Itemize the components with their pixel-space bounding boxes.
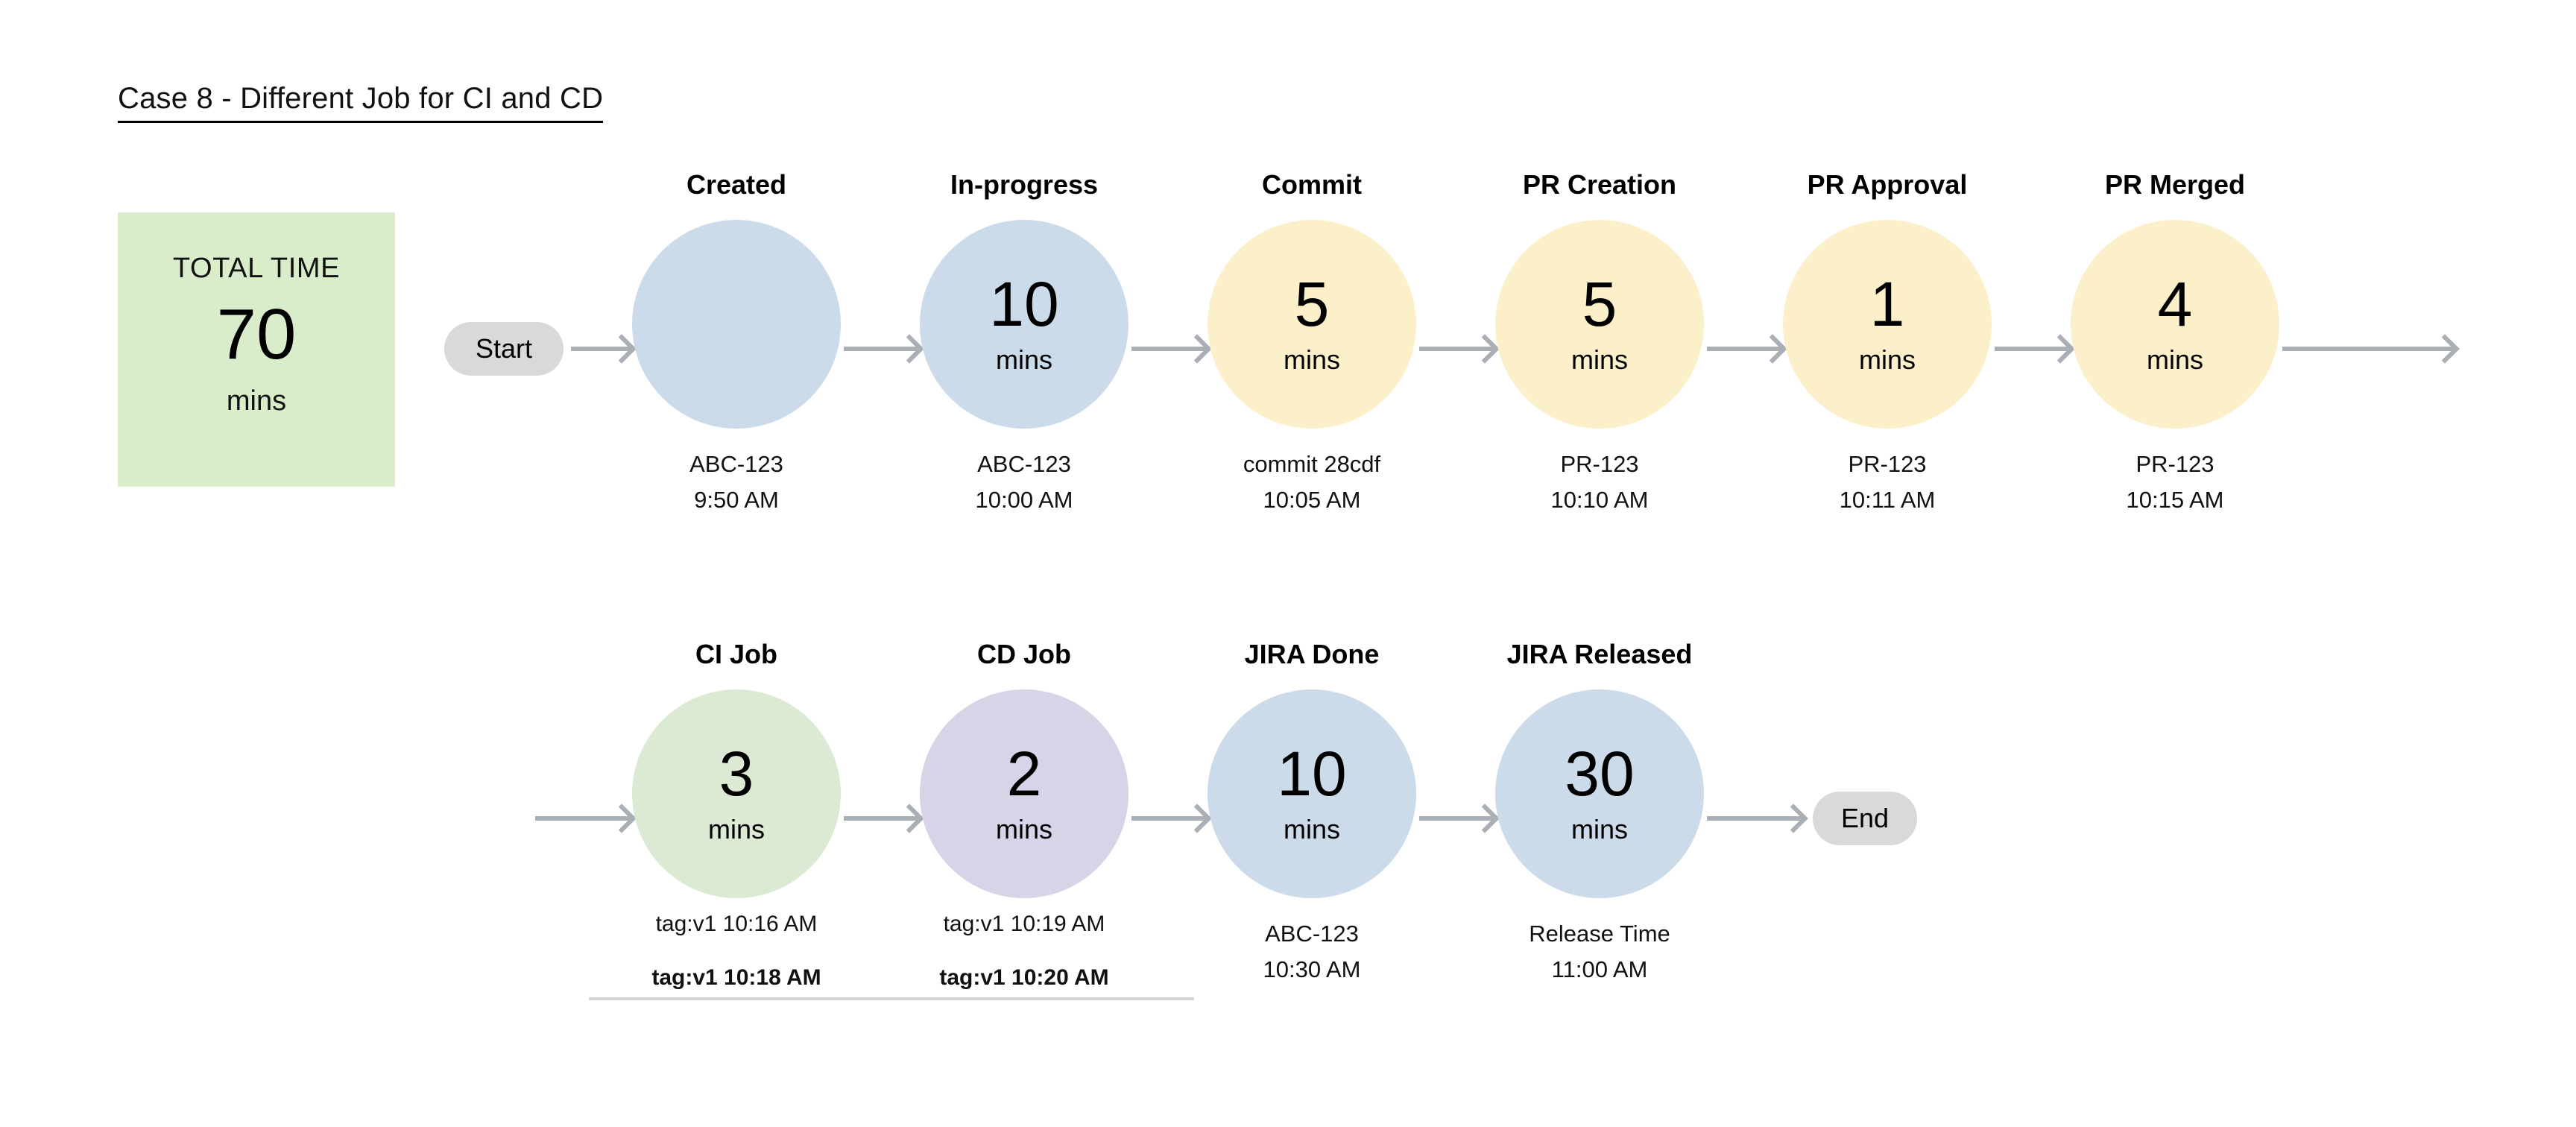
node-caption: PR-123 10:10 AM	[1488, 446, 1711, 519]
node-tag-bottom: tag:v1 10:20 AM	[912, 967, 1136, 989]
connector-prcreation-to-prapproval	[1707, 347, 1781, 351]
node-unit: mins	[1284, 816, 1340, 843]
node-title: PR Merged	[2063, 171, 2287, 201]
start-pill[interactable]: Start	[444, 322, 563, 376]
node-title: PR Creation	[1488, 171, 1711, 201]
end-pill-label: End	[1841, 803, 1889, 834]
node-tag-block: tag:v1 10:16 AM tag:v1 10:18 AM	[625, 913, 848, 989]
node-cd-job[interactable]: CD Job 2 mins tag:v1 10:19 AM tag:v1 10:…	[912, 641, 1136, 989]
node-caption-line1: ABC-123	[689, 451, 783, 477]
node-caption-line2: 10:30 AM	[1200, 952, 1424, 988]
node-value: 3	[719, 745, 754, 804]
node-value: 4	[2158, 275, 2193, 335]
connector-prev-row-to-cijob	[535, 816, 631, 821]
node-circle[interactable]: 5 mins	[1207, 220, 1416, 429]
node-circle[interactable]	[632, 220, 841, 429]
node-caption: PR-123 10:15 AM	[2063, 446, 2287, 519]
connector-cdjob-to-jiradone	[1131, 816, 1206, 821]
node-title: In-progress	[912, 171, 1136, 201]
node-circle[interactable]: 30 mins	[1495, 689, 1704, 898]
node-unit: mins	[2147, 347, 2203, 373]
node-created[interactable]: Created ABC-123 9:50 AM	[625, 171, 848, 519]
connector-start-to-created	[571, 347, 631, 351]
node-circle[interactable]: 2 mins	[920, 689, 1128, 898]
end-pill[interactable]: End	[1813, 792, 1917, 845]
node-caption: ABC-123 9:50 AM	[625, 446, 848, 519]
connector-jiradone-to-jirareleased	[1419, 816, 1494, 821]
total-time-card: TOTAL TIME 70 mins	[118, 212, 395, 487]
node-title: Commit	[1200, 171, 1424, 201]
node-title: PR Approval	[1775, 171, 1999, 201]
node-value: 10	[1277, 745, 1346, 804]
connector-prapproval-to-prmerged	[1995, 347, 2069, 351]
connector-prmerged-to-next-row	[2282, 347, 2454, 351]
node-caption-line1: ABC-123	[1265, 921, 1359, 947]
node-tag-bottom: tag:v1 10:18 AM	[625, 967, 848, 989]
node-tag-top: tag:v1 10:19 AM	[944, 912, 1105, 936]
node-value: 5	[1582, 275, 1617, 335]
node-unit: mins	[1859, 347, 1916, 373]
node-caption: Release Time 11:00 AM	[1488, 916, 1711, 988]
tag-divider	[589, 997, 1194, 1000]
node-value: 1	[1870, 275, 1905, 335]
node-caption-line1: PR-123	[2135, 451, 2214, 477]
node-caption-line2: 10:10 AM	[1488, 482, 1711, 518]
node-caption: ABC-123 10:00 AM	[912, 446, 1136, 519]
node-circle[interactable]: 3 mins	[632, 689, 841, 898]
node-caption-line2: 9:50 AM	[625, 482, 848, 518]
node-unit: mins	[1571, 816, 1628, 843]
node-title: CD Job	[912, 641, 1136, 671]
connector-inprogress-to-commit	[1131, 347, 1206, 351]
connector-jirareleased-to-end	[1707, 816, 1802, 821]
node-value: 5	[1295, 275, 1330, 335]
node-in-progress[interactable]: In-progress 10 mins ABC-123 10:00 AM	[912, 171, 1136, 519]
node-circle[interactable]: 5 mins	[1495, 220, 1704, 429]
connector-commit-to-prcreation	[1419, 347, 1494, 351]
node-caption: ABC-123 10:30 AM	[1200, 916, 1424, 988]
node-value: 30	[1565, 745, 1634, 804]
node-title: JIRA Done	[1200, 641, 1424, 671]
node-caption-line1: PR-123	[1848, 451, 1926, 477]
node-circle[interactable]: 4 mins	[2071, 220, 2279, 429]
node-unit: mins	[996, 347, 1052, 373]
node-value: 10	[989, 275, 1058, 335]
connector-created-to-inprogress	[844, 347, 918, 351]
node-caption-line1: Release Time	[1529, 921, 1670, 947]
node-tag-top: tag:v1 10:16 AM	[656, 912, 818, 936]
node-pr-approval[interactable]: PR Approval 1 mins PR-123 10:11 AM	[1775, 171, 1999, 519]
node-title: Created	[625, 171, 848, 201]
node-tag-block: tag:v1 10:19 AM tag:v1 10:20 AM	[912, 913, 1136, 989]
node-unit: mins	[708, 816, 765, 843]
node-caption: commit 28cdf 10:05 AM	[1200, 446, 1424, 519]
node-caption-line2: 10:00 AM	[912, 482, 1136, 518]
node-caption-line2: 10:15 AM	[2063, 482, 2287, 518]
node-circle[interactable]: 10 mins	[920, 220, 1128, 429]
node-circle[interactable]: 10 mins	[1207, 689, 1416, 898]
node-unit: mins	[1284, 347, 1340, 373]
node-caption-line2: 10:05 AM	[1200, 482, 1424, 518]
node-ci-job[interactable]: CI Job 3 mins tag:v1 10:16 AM tag:v1 10:…	[625, 641, 848, 989]
node-caption: PR-123 10:11 AM	[1775, 446, 1999, 519]
node-caption-line1: PR-123	[1560, 451, 1638, 477]
node-value: 2	[1007, 745, 1042, 804]
total-time-value: 70	[217, 296, 297, 373]
node-commit[interactable]: Commit 5 mins commit 28cdf 10:05 AM	[1200, 171, 1424, 519]
node-pr-merged[interactable]: PR Merged 4 mins PR-123 10:15 AM	[2063, 171, 2287, 519]
page-title: Case 8 - Different Job for CI and CD	[118, 82, 603, 123]
node-unit: mins	[996, 816, 1052, 843]
total-time-label: TOTAL TIME	[173, 254, 340, 282]
node-title: JIRA Released	[1488, 641, 1711, 671]
node-title: CI Job	[625, 641, 848, 671]
total-time-unit: mins	[227, 385, 286, 417]
node-caption-line2: 10:11 AM	[1775, 482, 1999, 518]
node-pr-creation[interactable]: PR Creation 5 mins PR-123 10:10 AM	[1488, 171, 1711, 519]
node-circle[interactable]: 1 mins	[1783, 220, 1992, 429]
node-caption-line1: ABC-123	[977, 451, 1071, 477]
node-caption-line2: 11:00 AM	[1488, 952, 1711, 988]
node-jira-released[interactable]: JIRA Released 30 mins Release Time 11:00…	[1488, 641, 1711, 988]
start-pill-label: Start	[476, 333, 532, 364]
node-caption-line1: commit 28cdf	[1243, 451, 1380, 477]
node-unit: mins	[1571, 347, 1628, 373]
connector-cijob-to-cdjob	[844, 816, 918, 821]
node-jira-done[interactable]: JIRA Done 10 mins ABC-123 10:30 AM	[1200, 641, 1424, 988]
